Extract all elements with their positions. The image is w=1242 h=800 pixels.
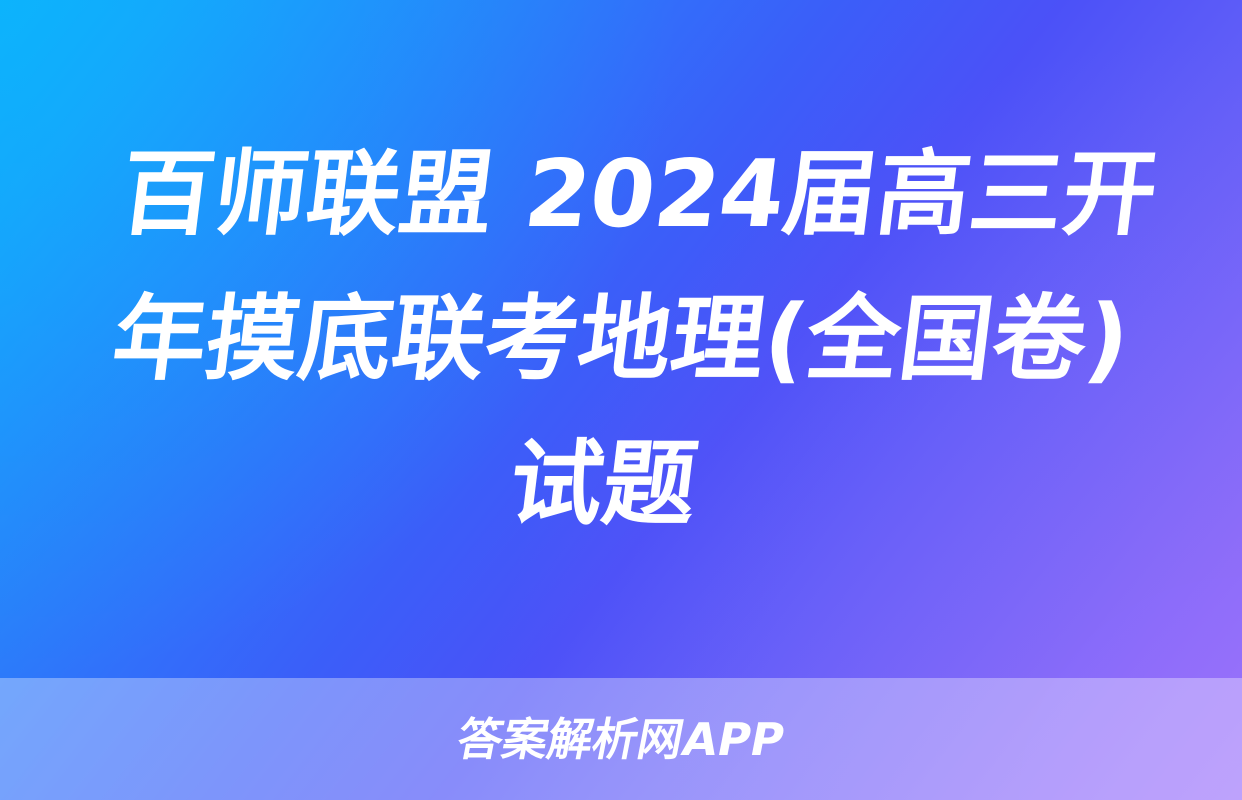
page-title: 百师联盟 2024届高三开年摸底联考地理(全国卷)试题 xyxy=(41,122,1200,557)
exam-poster: 百师联盟 2024届高三开年摸底联考地理(全国卷)试题 答案解析网APP xyxy=(0,0,1242,800)
watermark-band: 答案解析网APP xyxy=(0,678,1242,800)
watermark-label: 答案解析网APP xyxy=(454,717,789,762)
title-container: 百师联盟 2024届高三开年摸底联考地理(全国卷)试题 xyxy=(0,0,1242,678)
